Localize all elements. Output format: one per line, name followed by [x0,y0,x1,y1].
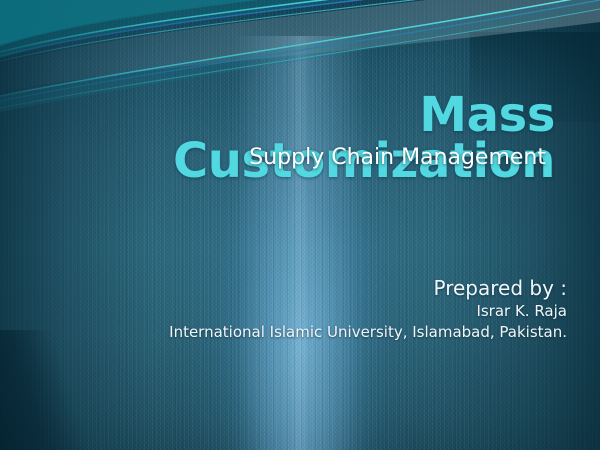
prepared-by-label: Prepared by : [0,276,567,301]
slide-title: Mass Customization [0,92,555,184]
author-affiliation: International Islamic University, Islama… [0,321,567,344]
title-line-1: Mass [0,92,555,138]
slide-credits: Prepared by : Israr K. Raja Internationa… [0,276,567,344]
background-wedge-bottom-left [0,330,90,450]
presentation-slide: Mass Customization Supply Chain Manageme… [0,0,600,450]
slide-subtitle: Supply Chain Management [0,146,546,170]
author-name: Israr K. Raja [0,301,567,321]
